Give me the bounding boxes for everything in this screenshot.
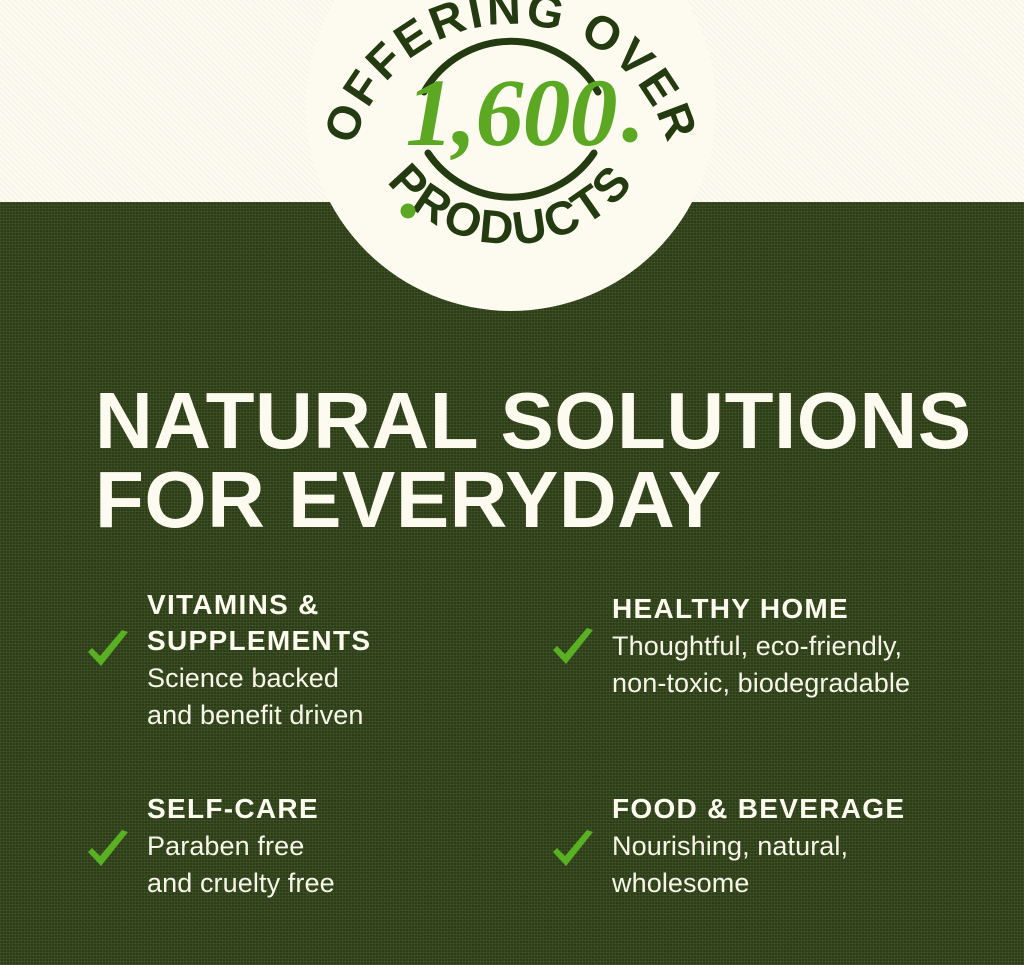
badge-artwork: OFFERING OVER PRODUCTS 1,600 <box>306 0 716 311</box>
check-icon <box>85 630 131 674</box>
feature-desc-vitamins-line-1: Science backed <box>147 660 540 697</box>
feature-title-healthy-home: HEALTHY HOME <box>612 592 1005 626</box>
feature-desc-self-care-line-1: Paraben free <box>147 828 540 865</box>
badge-dot-left <box>401 204 416 219</box>
page-title: NATURAL SOLUTIONS FOR EVERYDAY <box>95 381 975 539</box>
check-icon <box>550 830 596 874</box>
feature-title-vitamins-line-2: SUPPLEMENTS <box>147 624 540 658</box>
feature-desc-food-beverage-line-1: Nourishing, natural, <box>612 828 1005 865</box>
feature-desc-vitamins-line-2: and benefit driven <box>147 697 540 734</box>
feature-title-food-beverage: FOOD & BEVERAGE <box>612 792 1005 826</box>
feature-grid: VITAMINS & SUPPLEMENTS Science backed an… <box>85 588 1005 948</box>
offering-over-products-badge: OFFERING OVER PRODUCTS 1,600 <box>306 0 716 311</box>
feature-desc-healthy-home-line-2: non-toxic, biodegradable <box>612 665 1005 702</box>
feature-desc-food-beverage-line-2: wholesome <box>612 865 1005 902</box>
badge-dot-right <box>623 128 638 143</box>
badge-arc-bottom-text: PRODUCTS <box>379 153 643 255</box>
feature-text-healthy-home: HEALTHY HOME Thoughtful, eco-friendly, n… <box>612 588 1005 702</box>
feature-self-care: SELF-CARE Paraben free and cruelty free <box>85 788 540 948</box>
headline-line-2: FOR EVERYDAY <box>95 460 975 539</box>
check-icon <box>85 830 131 874</box>
feature-text-self-care: SELF-CARE Paraben free and cruelty free <box>147 788 540 902</box>
headline-line-1: NATURAL SOLUTIONS <box>95 381 975 460</box>
check-icon-wrap-self-care <box>85 788 147 948</box>
feature-healthy-home: HEALTHY HOME Thoughtful, eco-friendly, n… <box>550 588 1005 788</box>
check-icon <box>550 628 596 672</box>
check-icon-wrap-vitamins <box>85 588 147 788</box>
feature-text-vitamins: VITAMINS & SUPPLEMENTS Science backed an… <box>147 588 540 734</box>
feature-food-beverage: FOOD & BEVERAGE Nourishing, natural, who… <box>550 788 1005 948</box>
feature-vitamins-supplements: VITAMINS & SUPPLEMENTS Science backed an… <box>85 588 540 788</box>
badge-product-count: 1,600 <box>406 59 617 166</box>
feature-title-vitamins-line-1: VITAMINS & <box>147 588 540 622</box>
feature-desc-healthy-home-line-1: Thoughtful, eco-friendly, <box>612 628 1005 665</box>
check-icon-wrap-food-beverage <box>550 788 612 948</box>
promo-poster: OFFERING OVER PRODUCTS 1,600 NATURAL SOL… <box>0 0 1024 965</box>
feature-text-food-beverage: FOOD & BEVERAGE Nourishing, natural, who… <box>612 788 1005 902</box>
check-icon-wrap-healthy-home <box>550 588 612 788</box>
badge-arc-bottom-textpath: PRODUCTS <box>379 153 643 255</box>
feature-desc-self-care-line-2: and cruelty free <box>147 865 540 902</box>
feature-title-self-care: SELF-CARE <box>147 792 540 826</box>
